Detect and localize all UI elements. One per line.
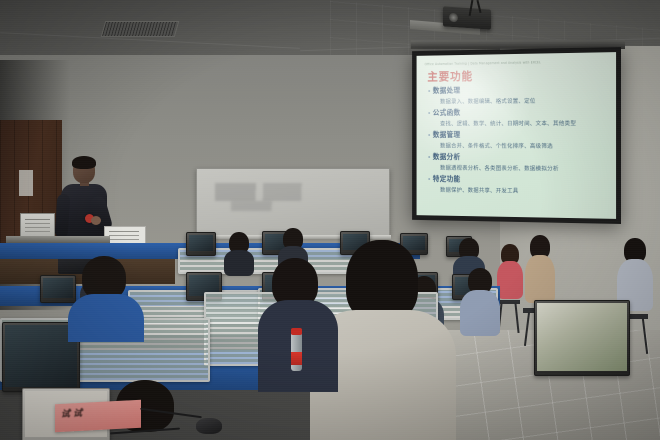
whiteboard-writing — [231, 201, 305, 211]
person-body — [497, 261, 523, 299]
slide-section-heading: 数据处理 — [433, 86, 461, 96]
projected-slide: Office Automation Training | Data Manage… — [417, 52, 616, 219]
student — [460, 268, 500, 334]
projection-screen: Office Automation Training | Data Manage… — [412, 47, 621, 224]
desk-name-label-text: 试 试 — [61, 406, 82, 420]
slide-section-heading-row: 公式函数 — [428, 107, 610, 118]
slide-section: 公式函数 查找、逻辑、数学、统计、日期时间、文本、其他类型 — [428, 107, 610, 127]
slide-section-heading: 数据分析 — [433, 152, 461, 162]
presenter-hair — [72, 156, 96, 169]
slide-section-items: 数据保护、数据共享、开发工具 — [440, 185, 610, 196]
whiteboard — [196, 168, 390, 236]
student-foreground — [68, 256, 144, 336]
slide-section-heading-row: 数据分析 — [428, 152, 610, 163]
bullet-icon — [428, 134, 430, 136]
slide-section-heading: 数据管理 — [433, 130, 461, 140]
seated-person-right — [497, 244, 525, 306]
bullet-icon — [428, 112, 430, 114]
slide-section-items: 数据合并、条件格式、个性化排序、高级筛选 — [440, 141, 610, 150]
teacher-monitor-content — [25, 219, 50, 220]
bullet-icon — [428, 178, 430, 180]
slide-section-heading-row: 数据管理 — [428, 130, 610, 140]
slide-section: 数据管理 数据合并、条件格式、个性化排序、高级筛选 — [428, 130, 610, 150]
ceiling-projector — [443, 6, 491, 29]
slide-section-items: 数据录入、数据编辑、格式设置、定位 — [440, 95, 610, 105]
presenter-hand — [91, 216, 101, 225]
lab-monitor — [186, 232, 216, 256]
projector-lens-icon — [449, 13, 458, 23]
monitor-screen — [189, 235, 213, 251]
slide-section-items: 查找、逻辑、数学、统计、日期时间、文本、其他类型 — [440, 118, 610, 127]
podium-top — [6, 236, 110, 243]
slide-title: 主要功能 — [427, 68, 473, 84]
slide-section: 特定功能 数据保护、数据共享、开发工具 — [428, 174, 610, 196]
student-body — [224, 250, 254, 276]
desk-name-label: 试 试 — [55, 400, 141, 433]
student-body — [460, 290, 500, 336]
slide-section-heading: 公式函数 — [433, 108, 461, 118]
bullet-icon — [428, 90, 430, 92]
monitor-screen — [5, 325, 77, 387]
bullet-icon — [428, 156, 430, 158]
slide-section-items: 数据透视表分析、各类图表分析、数据模拟分析 — [440, 163, 610, 173]
student — [224, 232, 254, 274]
monitor-screen — [537, 303, 627, 371]
slide-section-heading: 特定功能 — [433, 174, 461, 184]
slide-body: 数据处理 数据录入、数据编辑、格式设置、定位 公式函数 查找、逻辑、数学、统计、… — [428, 84, 610, 199]
whiteboard-writing — [215, 183, 335, 201]
slide-section: 数据处理 数据录入、数据编辑、格式设置、定位 — [428, 84, 610, 105]
slide-section-heading-row: 数据处理 — [428, 84, 610, 96]
classroom-photo: Office Automation Training | Data Manage… — [0, 0, 660, 440]
water-bottle-label — [291, 352, 302, 365]
computer-mouse — [196, 418, 222, 434]
wall-notice-sheet — [19, 170, 33, 196]
student-body — [68, 294, 144, 342]
ceiling-vent-icon — [101, 21, 180, 37]
person-body — [525, 255, 555, 303]
water-bottle-cap — [291, 328, 302, 335]
slide-header: Office Automation Training | Data Manage… — [425, 59, 609, 66]
lab-monitor-foreground — [534, 300, 630, 376]
slide-section: 数据分析 数据透视表分析、各类图表分析、数据模拟分析 — [428, 152, 610, 173]
